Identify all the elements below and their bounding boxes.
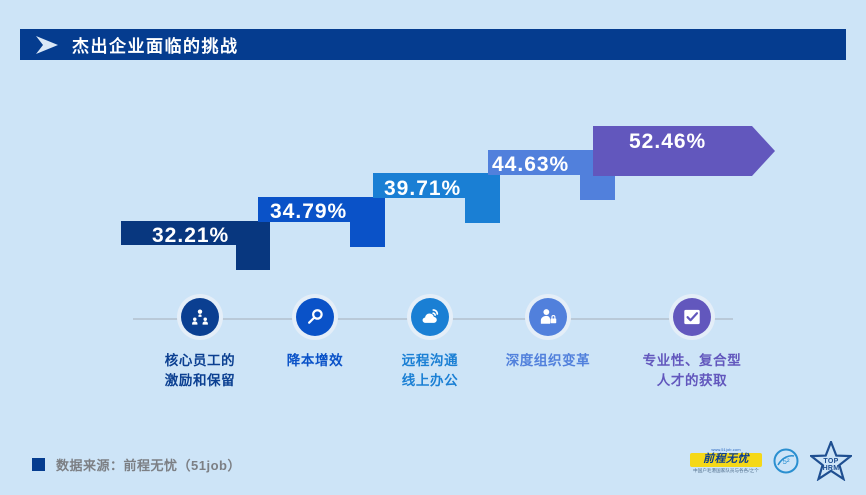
job51-logo-subtitle: 中国户毛港国家队员与各各/之个 (690, 469, 762, 474)
slide-title-bar: 杰出企业面临的挑战 (20, 29, 846, 60)
step-bar-5 (593, 126, 775, 176)
magnifier-key-icon (296, 298, 334, 336)
step-bar-4 (488, 150, 615, 200)
category-label-4: 深度组织变革 (478, 351, 618, 371)
job51-logo: www.51job.com 前程无忧 中国户毛港国家队员与各各/之个 (690, 448, 762, 474)
people-star-icon (181, 298, 219, 336)
job51-logo-url: www.51job.com (690, 448, 762, 452)
icon-ring-5 (669, 294, 715, 340)
svg-text:5²: 5² (782, 457, 789, 466)
icon-ring-4 (525, 294, 571, 340)
bar-shadow-4 (580, 175, 615, 200)
bar-value-label-2: 34.79% (270, 200, 347, 224)
bar-value-label-4: 44.63% (492, 153, 569, 177)
icon-ring-3 (407, 294, 453, 340)
category-icon-row: 核心员工的 激励和保留 降本增效 (0, 286, 866, 406)
step-bar-chart: 32.21% 34.79% 39.71% 44.63% 52.46% (0, 0, 866, 495)
bar-shadow-1 (236, 245, 270, 270)
icon-ring-2 (292, 294, 338, 340)
bar-shadow-3 (465, 198, 500, 223)
bar-value-label-3: 39.71% (384, 177, 461, 201)
person-lock-icon (529, 298, 567, 336)
bar-value-label-1: 32.21% (152, 224, 229, 248)
data-source-note: 数据来源：前程无忧（51job） (32, 455, 241, 474)
category-item-4[interactable]: 深度组织变革 (478, 286, 618, 371)
icon-ring-1 (177, 294, 223, 340)
blue-circle-logo-icon: 5² (773, 448, 799, 474)
bar-shadow-2 (350, 222, 385, 247)
source-swatch-icon (32, 458, 45, 471)
category-label-5: 专业性、复合型 人才的获取 (622, 351, 762, 390)
source-text: 数据来源：前程无忧（51job） (56, 455, 241, 474)
logo-group: www.51job.com 前程无忧 中国户毛港国家队员与各各/之个 5² TO… (690, 441, 852, 481)
step-bar-1 (121, 221, 270, 270)
step-bar-2 (258, 197, 385, 247)
slide-canvas: 杰出企业面临的挑战 32.21% 34.79% 39.71% 44.63% 52… (0, 0, 866, 495)
arrow-right-icon (34, 35, 60, 55)
job51-logo-name: 前程无忧 (690, 453, 762, 467)
category-item-5[interactable]: 专业性、复合型 人才的获取 (622, 286, 762, 390)
cloud-signal-icon (411, 298, 449, 336)
checkbox-check-icon (673, 298, 711, 336)
step-bars-svg (0, 0, 866, 495)
top-hrm-logo: TOP HRM (810, 441, 852, 481)
bar-value-label-5: 52.46% (629, 130, 706, 154)
step-bar-3 (373, 173, 500, 223)
page-title: 杰出企业面临的挑战 (72, 32, 239, 57)
top-hrm-logo-text: TOP HRM (810, 458, 852, 473)
